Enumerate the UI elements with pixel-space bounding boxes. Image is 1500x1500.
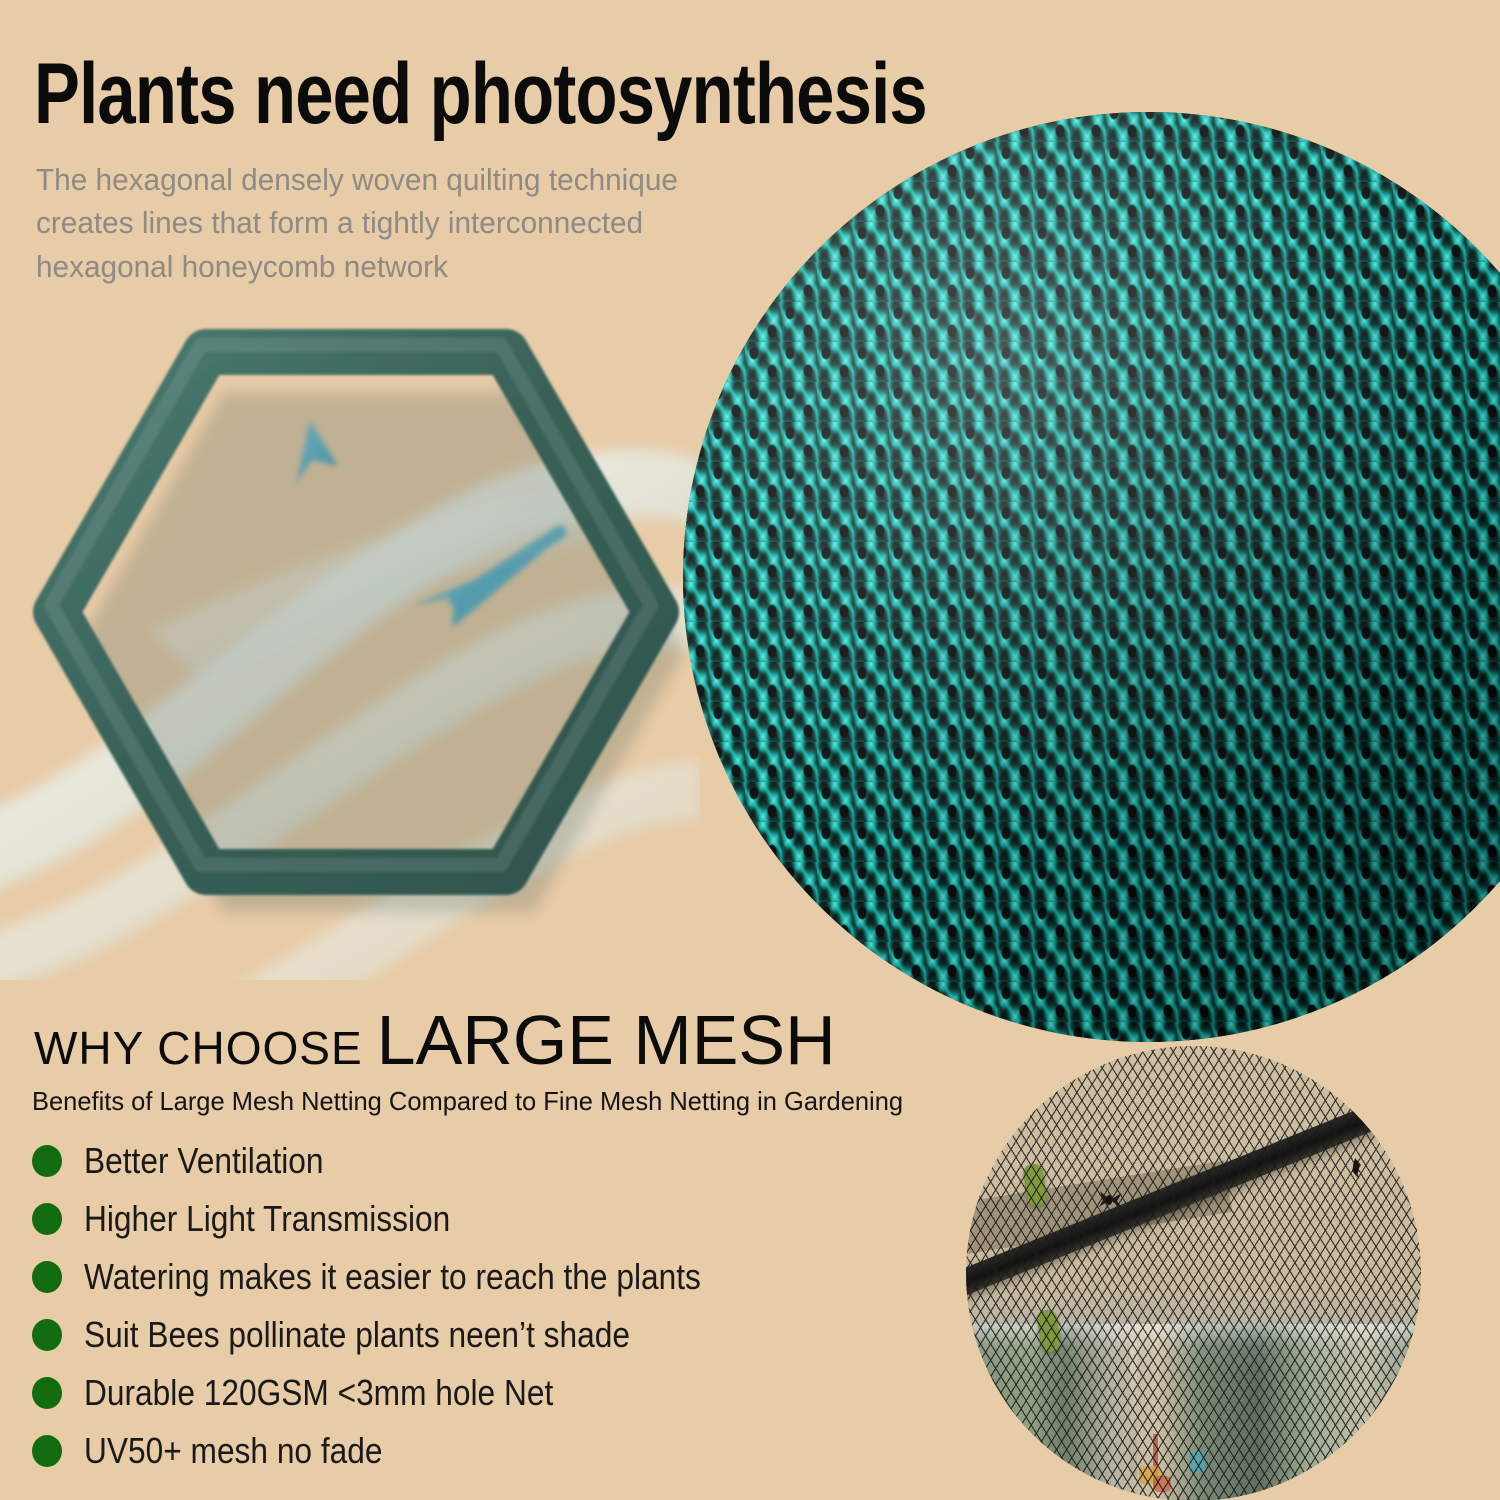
list-item-label: Higher Light Transmission — [84, 1198, 450, 1240]
bullet-dot-icon — [32, 1261, 62, 1293]
list-item-label: Better Ventilation — [84, 1140, 324, 1182]
large-mesh-photo — [683, 112, 1500, 1042]
benefits-list: Better Ventilation Higher Light Transmis… — [32, 1132, 932, 1480]
infographic-canvas: Plants need photosynthesis The hexagonal… — [0, 0, 1500, 1500]
page-subtitle: The hexagonal densely woven quilting tec… — [36, 158, 766, 288]
section-heading-small: WHY CHOOSE — [34, 1022, 363, 1074]
hexagon-illustration — [0, 300, 700, 980]
page-title: Plants need photosynthesis — [34, 52, 802, 136]
bullet-dot-icon — [32, 1435, 62, 1467]
fine-mesh-photo — [966, 1046, 1421, 1500]
list-item-label: Watering makes it easier to reach the pl… — [84, 1256, 701, 1298]
bullet-dot-icon — [32, 1203, 62, 1235]
bullet-dot-icon — [32, 1145, 62, 1177]
list-item: Suit Bees pollinate plants neen’t shade — [32, 1306, 932, 1364]
bullet-dot-icon — [32, 1377, 62, 1409]
list-item: UV50+ mesh no fade — [32, 1422, 932, 1480]
bullet-dot-icon — [32, 1319, 62, 1351]
hexagon-svg — [0, 300, 700, 980]
section-heading: WHY CHOOSELARGE MESH — [34, 1000, 836, 1080]
benefits-subtitle: Benefits of Large Mesh Netting Compared … — [32, 1086, 903, 1117]
fine-mesh-net-overlay — [966, 1046, 1421, 1500]
list-item-label: Suit Bees pollinate plants neen’t shade — [84, 1314, 630, 1356]
list-item-label: UV50+ mesh no fade — [84, 1430, 383, 1472]
list-item: Watering makes it easier to reach the pl… — [32, 1248, 932, 1306]
mesh-lighting-overlay — [683, 112, 1500, 1042]
list-item: Durable 120GSM <3mm hole Net — [32, 1364, 932, 1422]
list-item: Higher Light Transmission — [32, 1190, 932, 1248]
list-item-label: Durable 120GSM <3mm hole Net — [84, 1372, 553, 1414]
list-item: Better Ventilation — [32, 1132, 932, 1190]
section-heading-large: LARGE MESH — [377, 1001, 836, 1079]
